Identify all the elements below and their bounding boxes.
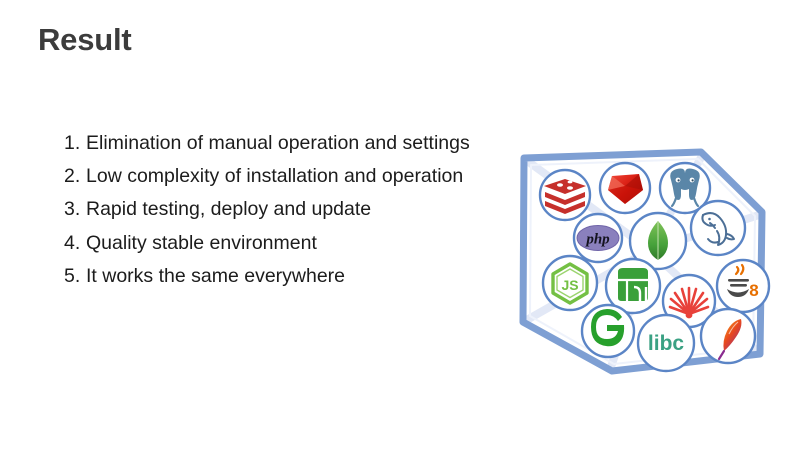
redis-icon [540,170,590,220]
list-item-label: It works the same everywhere [83,260,345,293]
list-item-number: 5. [64,260,83,293]
list-item-label: Elimination of manual operation and sett… [83,127,470,160]
results-list: 1. Elimination of manual operation and s… [64,127,470,293]
list-item: 2. Low complexity of installation and op… [64,160,470,193]
nodejs-icon: JS [543,256,597,310]
list-item: 5. It works the same everywhere [64,260,470,293]
libc-icon: libc [638,315,694,371]
page-title: Result [38,21,132,58]
list-item: 1. Elimination of manual operation and s… [64,127,470,160]
list-item-number: 3. [64,193,83,226]
svg-text:8: 8 [749,281,758,300]
apache-icon [701,309,755,363]
list-item-number: 4. [64,227,83,260]
list-item: 3. Rapid testing, deploy and update [64,193,470,226]
svg-text:php: php [584,232,610,248]
mysql-icon [691,201,745,255]
php-icon: php [574,214,622,262]
gradle-icon [582,305,634,357]
list-item-number: 2. [64,160,83,193]
slide-canvas: Result 1. Elimination of manual operatio… [0,0,800,449]
list-item-label: Quality stable environment [83,227,317,260]
list-item: 4. Quality stable environment [64,227,470,260]
list-item-number: 1. [64,127,83,160]
svg-text:libc: libc [648,332,684,355]
svg-text:JS: JS [561,277,578,293]
list-item-label: Rapid testing, deploy and update [83,193,371,226]
container-illustration: php [500,138,785,383]
java8-icon: 8 [717,260,769,312]
list-item-label: Low complexity of installation and opera… [83,160,463,193]
ruby-icon [600,163,650,213]
